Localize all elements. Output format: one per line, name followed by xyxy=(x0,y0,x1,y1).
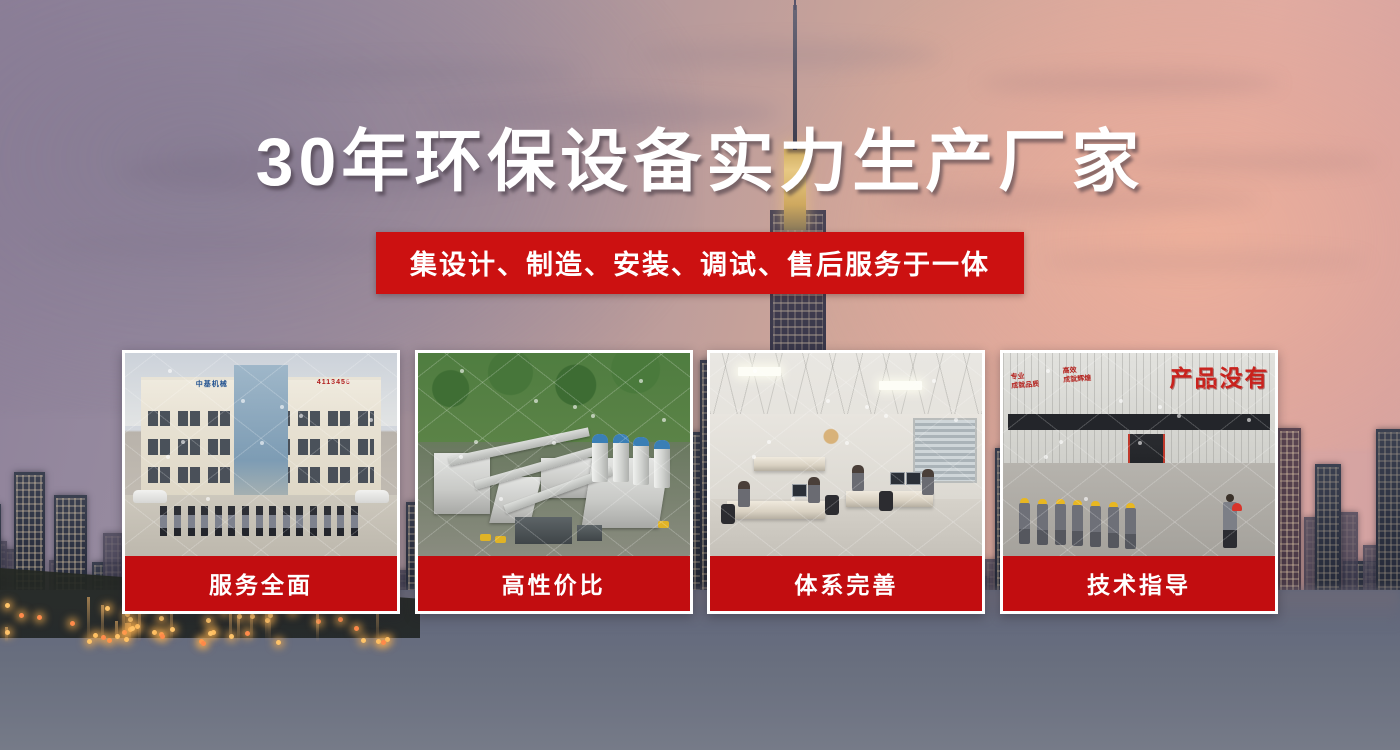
card-caption: 高性价比 xyxy=(418,556,690,611)
staff-figure xyxy=(188,506,195,536)
riverbank-light xyxy=(381,640,386,645)
card-caption: 技术指导 xyxy=(1003,556,1275,611)
staff-figure xyxy=(201,506,208,536)
staff-figure xyxy=(228,506,235,536)
staff-figure xyxy=(242,506,249,536)
factory-sign-text: 产品没有 xyxy=(1170,359,1270,393)
card-caption: 体系完善 xyxy=(710,556,982,611)
staff-figure xyxy=(337,506,344,536)
light-reflection xyxy=(5,627,8,642)
light-reflection xyxy=(229,612,232,642)
industrial-plant xyxy=(429,410,685,544)
worker-figure xyxy=(1072,500,1083,546)
promo-banner: 30年环保设备实力生产厂家 集设计、制造、安装、调试、售后服务于一体 中基机械 … xyxy=(0,0,1400,750)
staff-figure xyxy=(269,506,276,536)
office-interior-photo xyxy=(710,353,982,556)
light-reflection xyxy=(115,621,118,642)
feature-card[interactable]: 产品没有 专业成就品质 高效成就辉煌 技术指导 xyxy=(1000,350,1278,614)
staff-figure xyxy=(296,506,303,536)
building-sign-text: 中基机械 xyxy=(196,379,228,389)
subtitle-bar-wrap: 集设计、制造、安装、调试、售后服务于一体 xyxy=(0,232,1400,294)
feature-card[interactable]: 高性价比 xyxy=(415,350,693,614)
riverbank-light xyxy=(70,621,75,626)
skyline-building xyxy=(1315,464,1341,610)
feature-card[interactable]: 中基机械 4113456 服务全面 xyxy=(122,350,400,614)
staff-figure xyxy=(174,506,181,536)
worker-figure xyxy=(1090,501,1101,547)
riverbank-light xyxy=(354,626,359,631)
worker-figure xyxy=(1125,503,1136,549)
card-caption: 服务全面 xyxy=(125,556,397,611)
riverbank-light xyxy=(105,606,110,611)
riverbank-light xyxy=(276,640,281,645)
cloud-streak xyxy=(640,40,940,70)
staff-figure xyxy=(351,506,358,536)
staff-figure xyxy=(324,506,331,536)
light-reflection xyxy=(237,615,240,642)
landmark-spire-tip xyxy=(794,0,796,10)
red-helmet xyxy=(1232,503,1242,511)
feature-card-row: 中基机械 4113456 服务全面 xyxy=(122,350,1278,614)
staff-figure xyxy=(256,506,263,536)
riverbank-light xyxy=(93,633,98,638)
light-reflection xyxy=(87,597,90,642)
worker-figure xyxy=(1019,498,1030,544)
cloud-streak xyxy=(980,70,1280,96)
staff-figure xyxy=(215,506,222,536)
staff-figure xyxy=(310,506,317,536)
skyline-building xyxy=(1278,428,1301,610)
page-title: 30年环保设备实力生产厂家 xyxy=(0,128,1400,196)
feature-card[interactable]: 体系完善 xyxy=(707,350,985,614)
cloud-streak xyxy=(250,60,580,86)
staff-figure xyxy=(160,506,167,536)
factory-window-strip xyxy=(1008,414,1269,430)
light-reflection xyxy=(101,605,104,642)
worker-figure xyxy=(1037,499,1048,545)
office-ceiling xyxy=(710,353,982,414)
factory-workers-photo: 产品没有 专业成就品质 高效成就辉煌 xyxy=(1003,353,1275,556)
riverbank-light xyxy=(338,617,343,622)
building-phone-text: 4113456 xyxy=(317,379,351,386)
wall-decal xyxy=(814,426,848,452)
subtitle-bar: 集设计、制造、安装、调试、售后服务于一体 xyxy=(376,232,1024,294)
light-reflection xyxy=(316,613,319,642)
aerial-plant-photo xyxy=(418,353,690,556)
supervisor-figure xyxy=(1223,494,1237,548)
worker-figure xyxy=(1108,502,1119,548)
staff-figure xyxy=(283,506,290,536)
skyline-building xyxy=(1376,429,1400,610)
worker-figure xyxy=(1055,499,1066,545)
company-headquarters-photo: 中基机械 4113456 xyxy=(125,353,397,556)
